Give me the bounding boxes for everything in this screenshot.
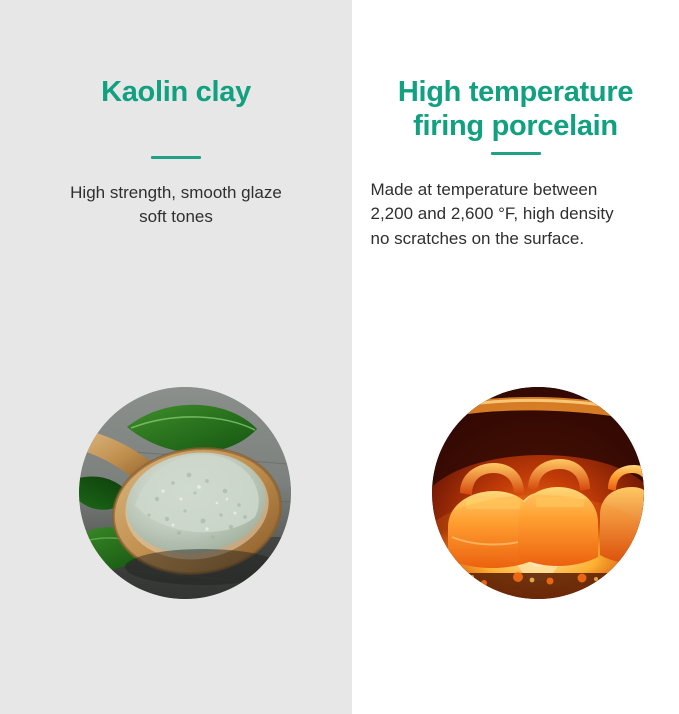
- panel-heading-high-temperature-firing: High temperature firing porcelain: [366, 0, 666, 143]
- feature-panel-high-temperature-firing: High temperature firing porcelain Made a…: [352, 0, 679, 714]
- kiln-firing-photo-graphic: [432, 387, 644, 599]
- kaolin-clay-photo-graphic: [79, 387, 291, 599]
- panel-body-kaolin-clay: High strength, smooth glaze soft tones: [26, 181, 326, 229]
- panel-body-high-temperature-firing: Made at temperature between 2,200 and 2,…: [371, 178, 661, 250]
- divider-rule-left: [151, 156, 201, 159]
- kaolin-clay-powder-in-wooden-spoon-photo: [79, 387, 291, 599]
- divider-rule-right: [491, 152, 541, 155]
- feature-panel-kaolin-clay: Kaolin clay High strength, smooth glaze …: [0, 0, 352, 714]
- product-feature-board: Kaolin clay High strength, smooth glaze …: [0, 0, 679, 714]
- panel-heading-kaolin-clay: Kaolin clay: [26, 0, 326, 110]
- kiln-firing-porcelain-photo: [432, 387, 644, 599]
